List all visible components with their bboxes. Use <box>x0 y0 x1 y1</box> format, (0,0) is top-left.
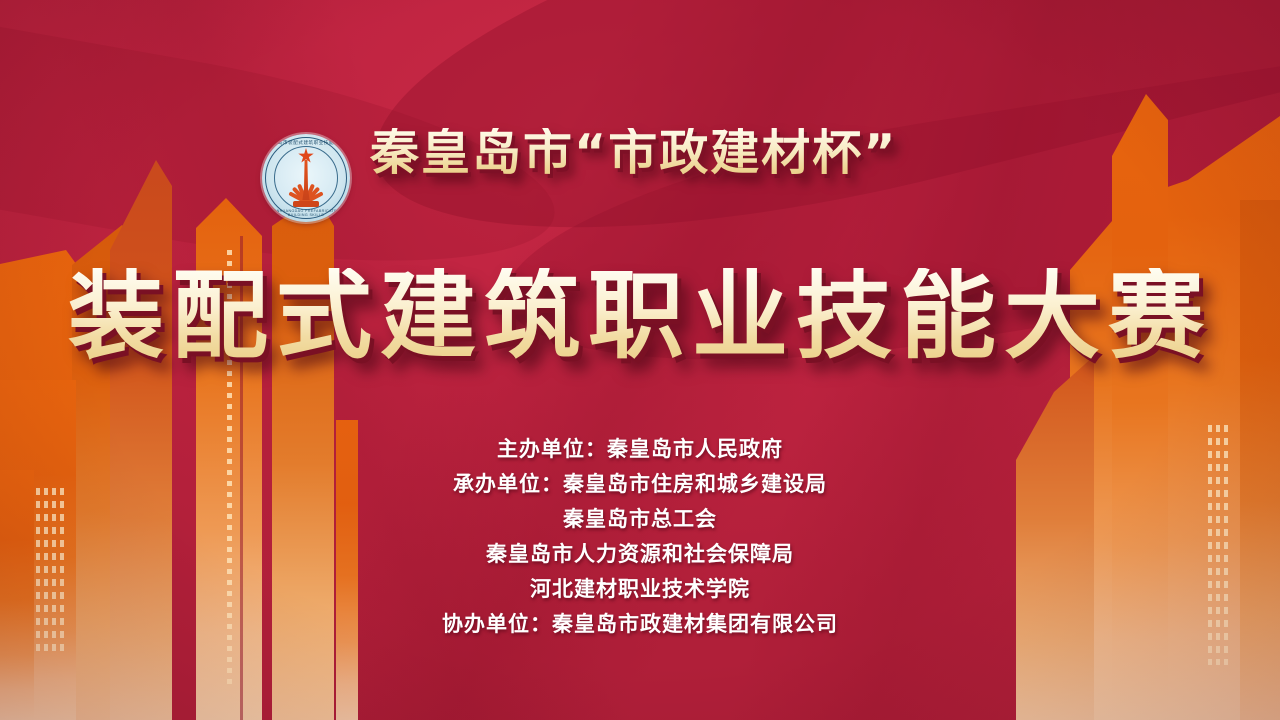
poster-subtitle: 秦皇岛市“市政建材杯” <box>370 128 1010 177</box>
organizer-line: 秦皇岛市人力资源和社会保障局 <box>0 537 1280 572</box>
poster-headline: 装配式建筑职业技能大赛 <box>0 268 1280 364</box>
organizer-line: 协办单位：秦皇岛市政建材集团有限公司 <box>0 607 1280 642</box>
organizer-block: 主办单位：秦皇岛市人民政府 承办单位：秦皇岛市住房和城乡建设局 秦皇岛市总工会 … <box>0 432 1280 642</box>
seal-arc-text-bottom: QINHUANGDAO PREFABRICATED BUILDING SKILL… <box>262 209 350 217</box>
organizer-line: 河北建材职业技术学院 <box>0 572 1280 607</box>
seal-arc-text-top: 秦皇岛市装配式建筑职业技能大赛 <box>262 140 350 146</box>
competition-seal-emblem: 秦皇岛市装配式建筑职业技能大赛 QINHUANGDAO PREFABRICATE… <box>262 134 350 222</box>
organizer-line: 承办单位：秦皇岛市住房和城乡建设局 <box>0 467 1280 502</box>
organizer-line: 主办单位：秦皇岛市人民政府 <box>0 432 1280 467</box>
poster-canvas: 秦皇岛市装配式建筑职业技能大赛 QINHUANGDAO PREFABRICATE… <box>0 0 1280 720</box>
organizer-line: 秦皇岛市总工会 <box>0 502 1280 537</box>
seal-base <box>293 201 319 207</box>
